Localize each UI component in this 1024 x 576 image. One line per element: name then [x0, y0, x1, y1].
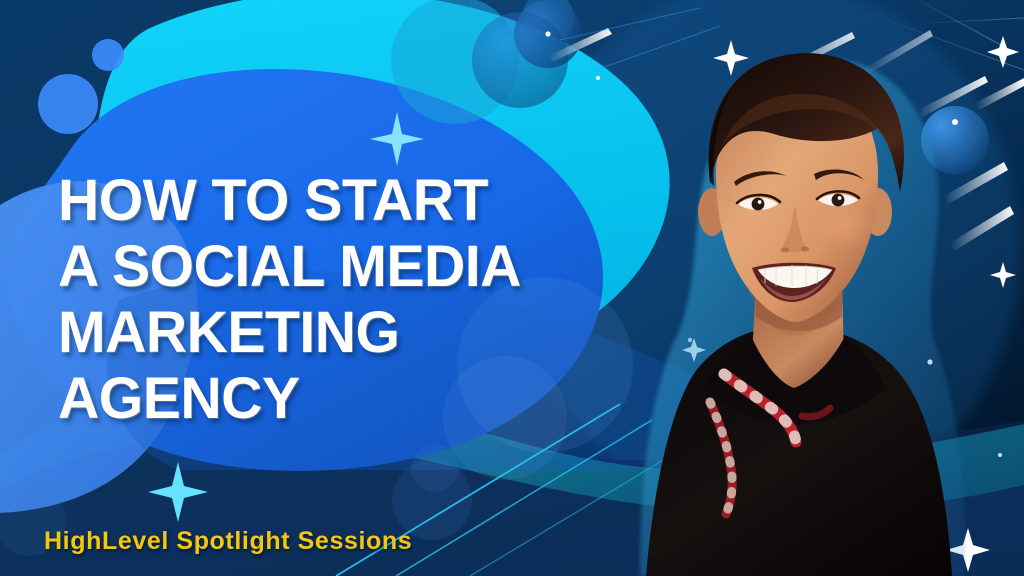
presenter-photo — [606, 16, 966, 576]
dot-star — [998, 453, 1002, 457]
nostril — [781, 247, 789, 252]
cheek-highlight — [720, 204, 788, 256]
dot-star — [545, 31, 550, 36]
soft-circle — [443, 356, 567, 480]
accent-circle — [38, 74, 98, 134]
accent-circle — [92, 39, 124, 71]
video-thumbnail: HOW TO START A SOCIAL MEDIA MARKETING AG… — [0, 0, 1024, 576]
nostril — [801, 246, 809, 251]
dot-star — [596, 76, 600, 80]
cheek-highlight — [814, 202, 878, 250]
soft-circle — [411, 444, 459, 492]
